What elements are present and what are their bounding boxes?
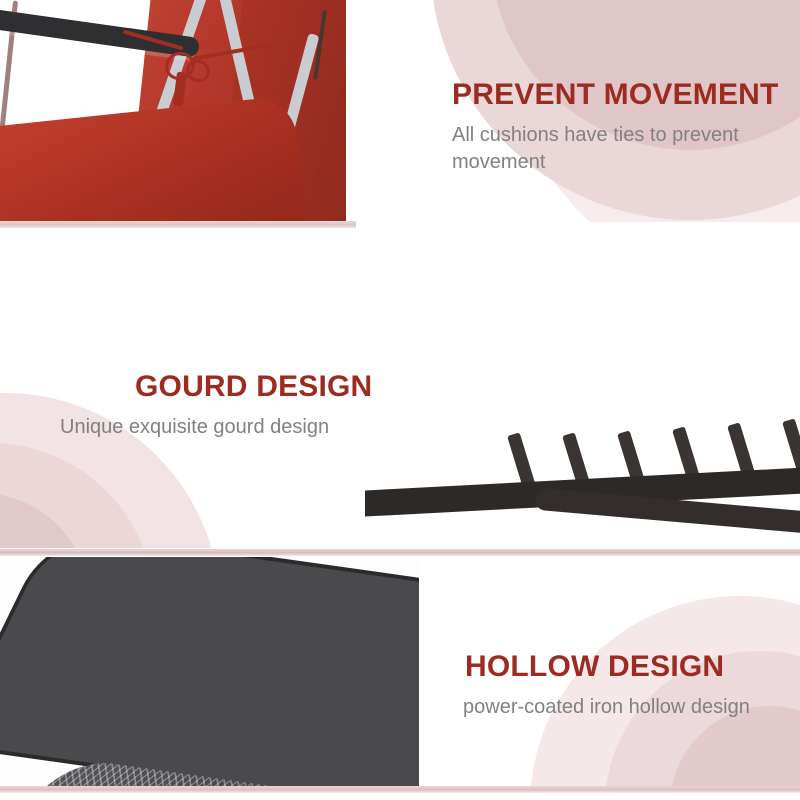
section-divider [0, 221, 356, 228]
feature-text-hollow-design: HOLLOW DESIGN power-coated iron hollow d… [465, 650, 795, 721]
headline-gourd-design: GOURD DESIGN [135, 370, 495, 404]
feature-text-gourd-design: GOURD DESIGN Unique exquisite gourd desi… [135, 370, 495, 441]
decor-arc-icon [0, 493, 90, 548]
subtitle-hollow-design: power-coated iron hollow design [463, 694, 795, 721]
section-divider [0, 549, 800, 556]
feature-text-prevent-movement: PREVENT MOVEMENT All cushions have ties … [452, 78, 782, 176]
headline-hollow-design: HOLLOW DESIGN [465, 650, 795, 684]
subtitle-gourd-design: Unique exquisite gourd design [60, 414, 495, 441]
photo-prevent-movement [0, 0, 346, 221]
decor-arc-icon [0, 443, 155, 548]
photo-hollow-design [0, 557, 419, 787]
table-top-base [0, 557, 419, 787]
headline-prevent-movement: PREVENT MOVEMENT [452, 78, 782, 112]
section-divider [0, 786, 800, 793]
product-feature-collage: PREVENT MOVEMENT All cushions have ties … [0, 0, 800, 800]
subtitle-prevent-movement: All cushions have ties to prevent moveme… [452, 122, 782, 176]
